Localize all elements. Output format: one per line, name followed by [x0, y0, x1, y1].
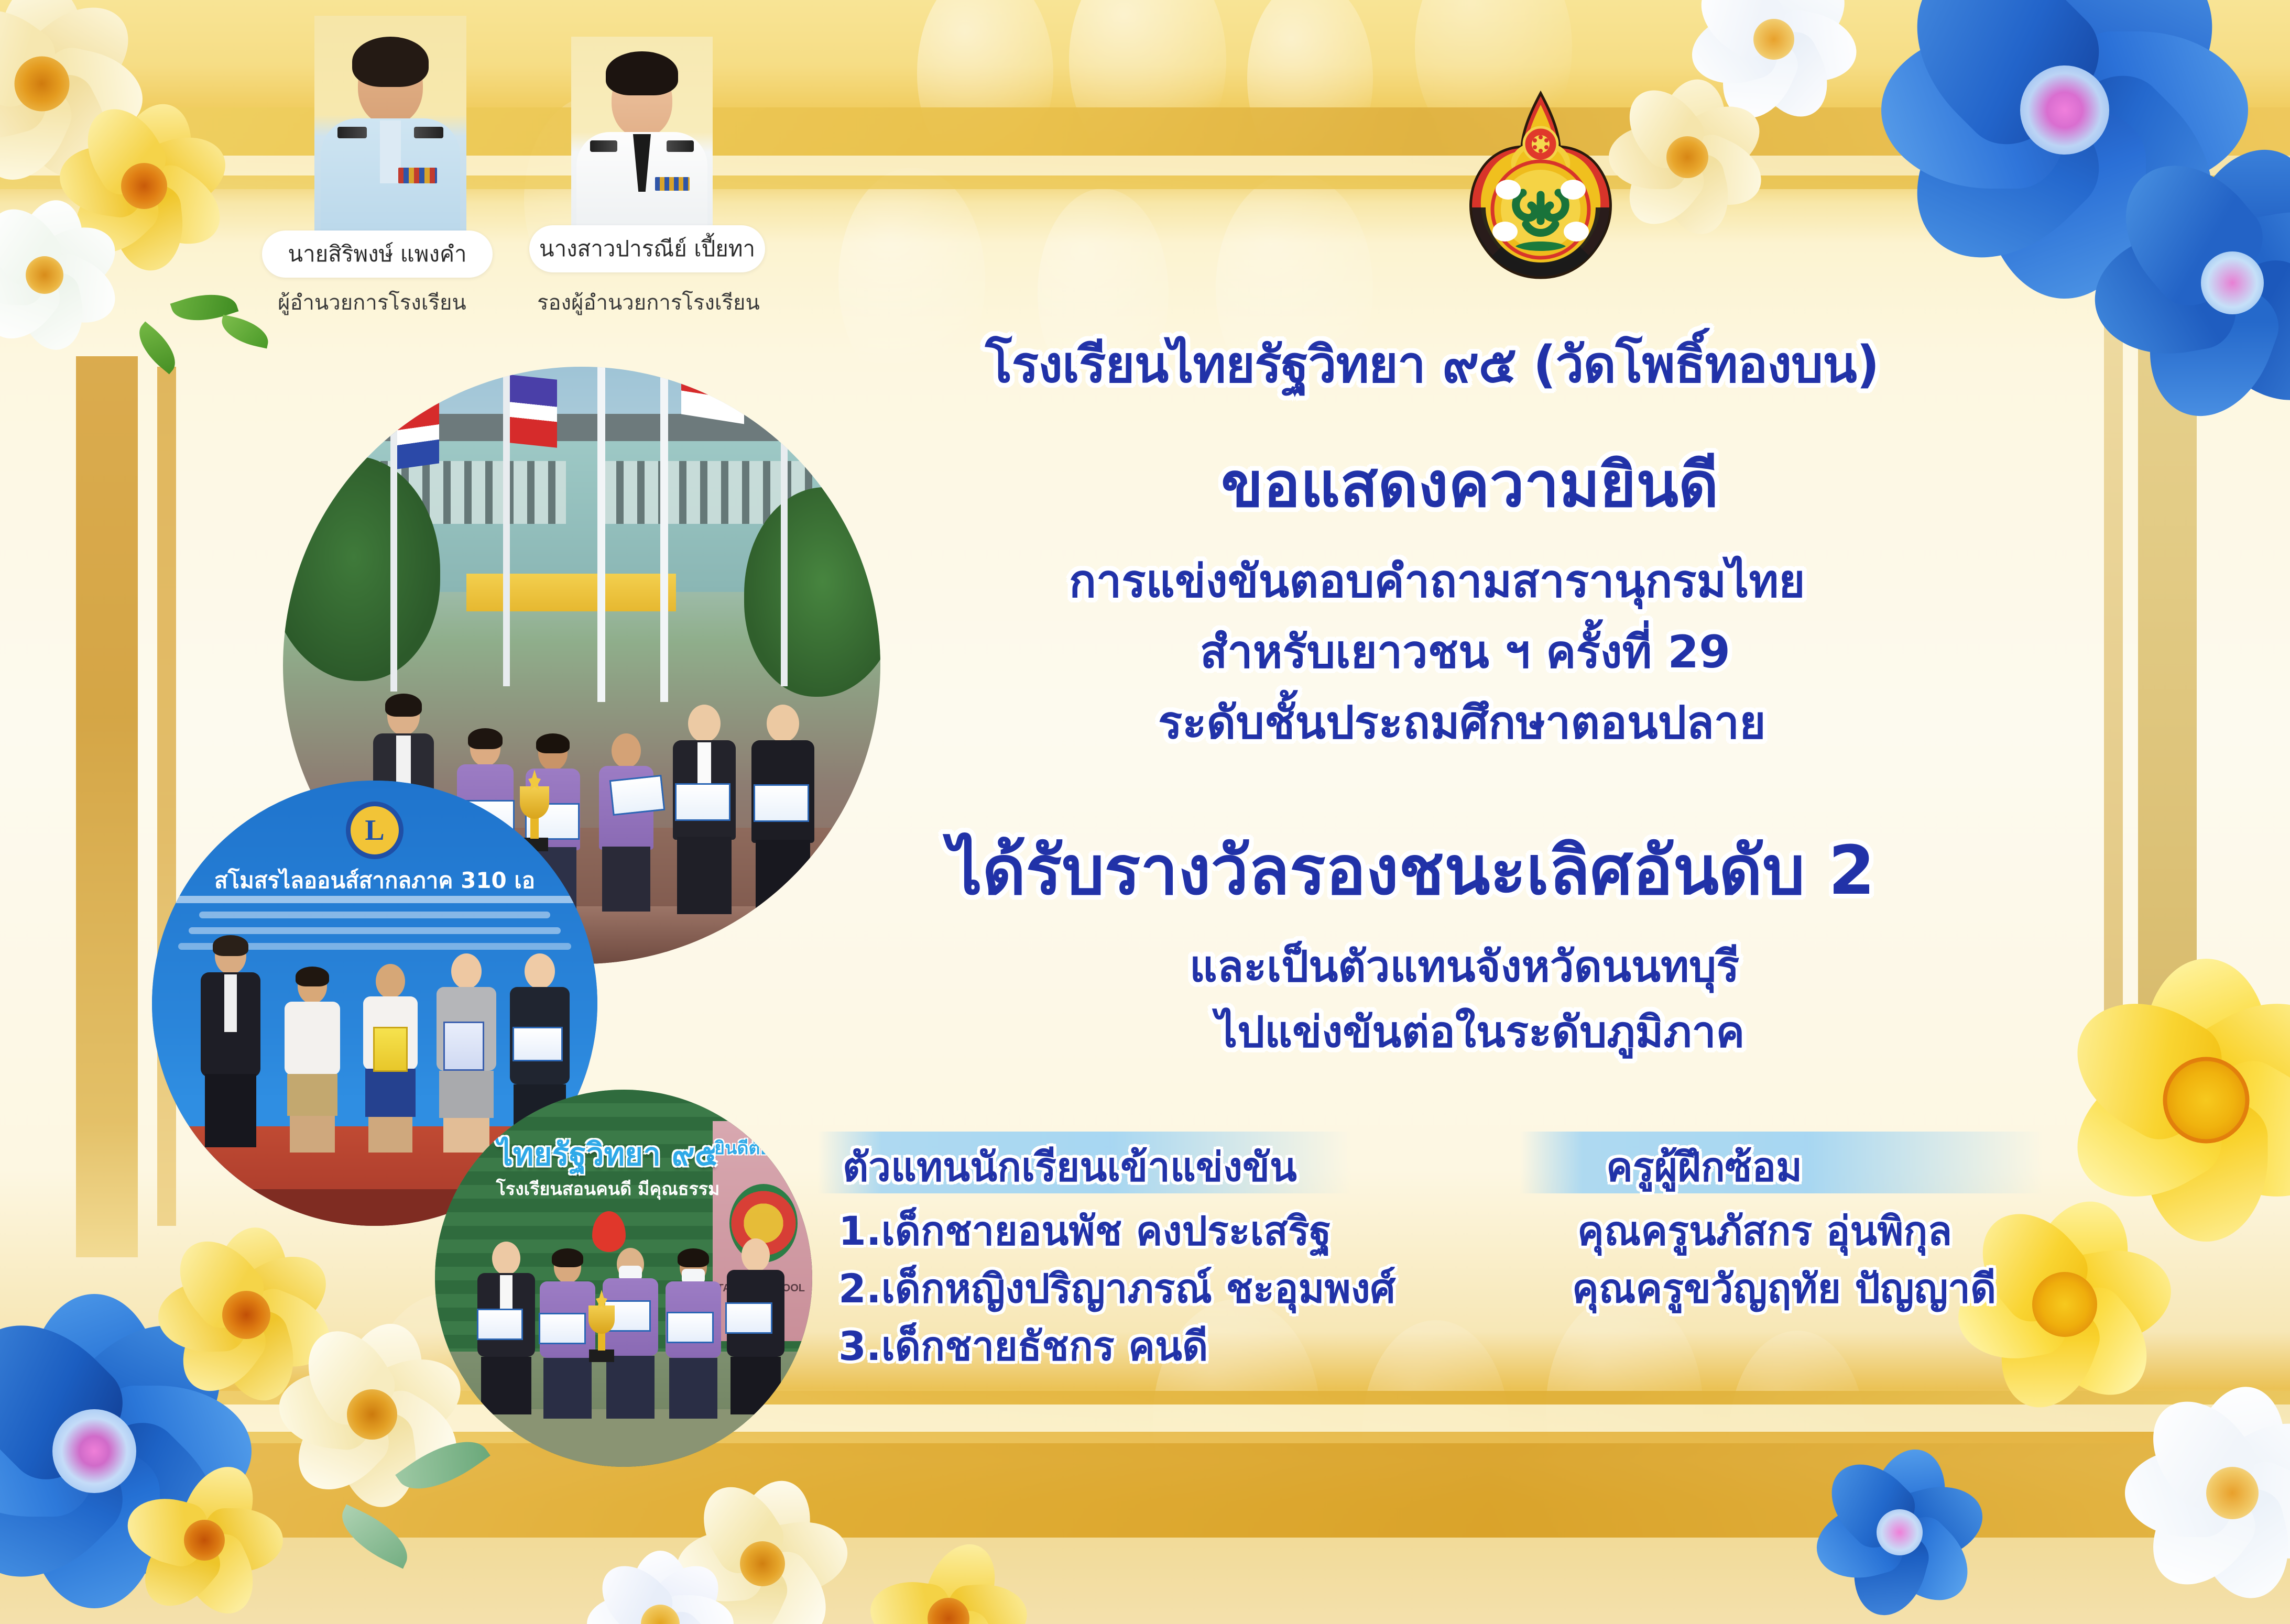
school-entrance-group-photo: ไทยรัฐวิทยา ๙๕ โรงเรียนสอนคนดี มีคุณธรรม…	[435, 1090, 812, 1467]
school-sign-main: ไทยรัฐวิทยา ๙๕	[493, 1129, 723, 1179]
gold-band-bottom-edge	[0, 1538, 2290, 1624]
gold-band-bottom-thin	[0, 1391, 2290, 1404]
teacher-name-2: คุณครูขวัญฤทัย ปัญญาดี	[1572, 1257, 1996, 1320]
students-heading: ตัวแทนนักเรียนเข้าแข่งขัน	[843, 1136, 1297, 1199]
gold-bar-left	[76, 356, 138, 1257]
gold-band-bottom-thin2	[0, 1432, 2290, 1443]
lions-banner-line: สโมสรไลออนส์สากลภาค 310 เอ	[152, 863, 597, 898]
student-name-2: 2.เด็กหญิงปริญาภรณ์ ชะอุมพงศ์	[838, 1257, 1395, 1320]
director-name-pill: นายสิริพงษ์ แพงคำ	[262, 231, 493, 278]
gold-band-bottom-cream	[0, 1404, 2290, 1432]
deputy-director-portrait	[571, 37, 713, 236]
director-name: นายสิริพงษ์ แพงคำ	[288, 237, 466, 271]
director-role: ผู้อำนวยการโรงเรียน	[278, 286, 466, 319]
student-name-1: 1.เด็กชายอนพัช คงประเสริฐ	[838, 1200, 1332, 1263]
congratulations-heading: ขอแสดงความยินดี	[1221, 435, 1719, 533]
welcome-sign: ยินดีต้อนรับ	[714, 1134, 804, 1162]
representative-line-1: และเป็นตัวแทนจังหวัดนนทบุรี	[1190, 932, 1739, 1001]
gold-bar-right-thin	[2104, 79, 2123, 1173]
congratulation-poster: นายสิริพงษ์ แพงคำ นางสาวปารณีย์ เปี้ยทา …	[0, 0, 2290, 1624]
deputy-director-role: รองผู้อำนวยการโรงเรียน	[537, 286, 760, 319]
teacher-name-1: คุณครูนภัสกร อุ่นพิกุล	[1577, 1200, 1952, 1263]
event-line-1: การแข่งขันตอบคำถามสารานุกรมไทย	[1069, 545, 1805, 617]
student-name-3: 3.เด็กชายธัชกร คนดี	[838, 1315, 1208, 1378]
lions-club-logo: L	[346, 802, 404, 859]
event-line-3: ระดับชั้นประถมศึกษาตอนปลาย	[1158, 686, 1766, 758]
school-title: โรงเรียนไทยรัฐวิทยา ๙๕ (วัดโพธิ์ทองบน)	[985, 325, 1879, 404]
gold-bar-right	[2138, 68, 2197, 1184]
director-portrait	[314, 16, 466, 236]
deputy-director-name-pill: นางสาวปารณีย์ เปี้ยทา	[529, 225, 765, 272]
deputy-director-name: นางสาวปารณีย์ เปี้ยทา	[539, 232, 755, 266]
event-line-2: สำหรับเยาวชน ฯ ครั้งที่ 29	[1200, 616, 1730, 687]
representative-line-2: ไปแข่งขันต่อในระดับภูมิภาค	[1216, 998, 1744, 1066]
school-emblem	[1446, 89, 1635, 283]
teachers-heading: ครูผู้ฝึกซ้อม	[1606, 1136, 1802, 1199]
school-sign-sub: โรงเรียนสอนคนดี มีคุณธรรม	[493, 1175, 723, 1203]
award-heading: ได้รับรางวัลรองชนะเลิศอันดับ 2	[948, 817, 1875, 924]
